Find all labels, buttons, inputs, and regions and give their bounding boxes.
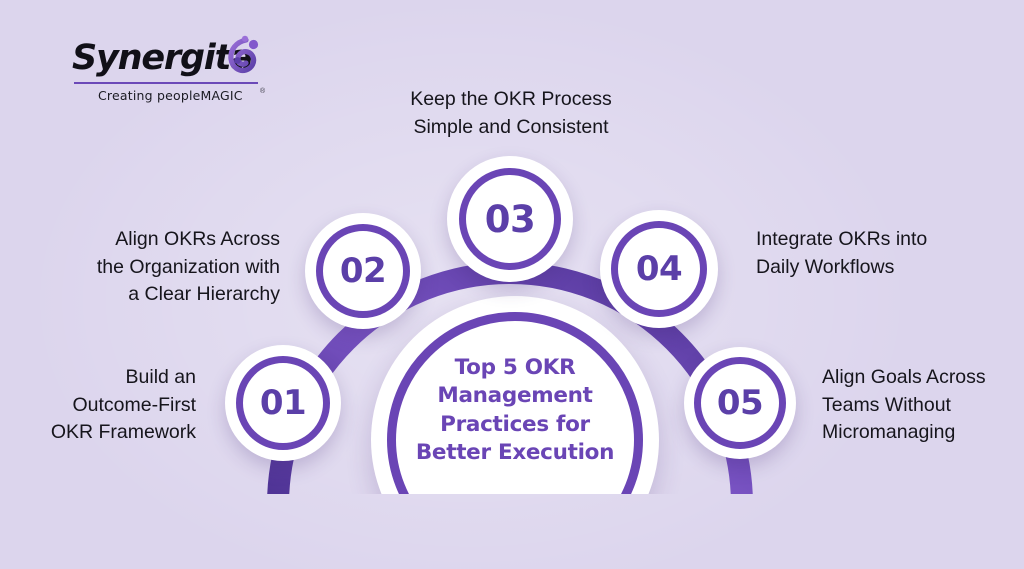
- brand-tagline: Creating peopleMAGIC: [98, 88, 243, 103]
- step-label-04: Integrate OKRs into Daily Workflows: [756, 226, 996, 281]
- step-badge-04[interactable]: 04: [600, 210, 718, 328]
- infographic-canvas: Top 5 OKR Management Practices for Bette…: [0, 0, 1024, 569]
- hub-title: Top 5 OKR Management Practices for Bette…: [407, 354, 623, 468]
- step-badge-01[interactable]: 01: [225, 345, 341, 461]
- synergita-swirl-icon: [212, 34, 264, 86]
- step-badge-02[interactable]: 02: [305, 213, 421, 329]
- step-badge-02-ring: 02: [316, 224, 410, 318]
- registered-mark: ®: [260, 88, 265, 95]
- step-badge-03-number: 03: [485, 201, 536, 238]
- step-badge-01-number: 01: [260, 386, 306, 420]
- step-badge-04-ring: 04: [611, 221, 707, 317]
- step-label-01: Build an Outcome-First OKR Framework: [10, 364, 196, 447]
- step-label-02: Align OKRs Across the Organization with …: [38, 226, 280, 309]
- step-badge-05-ring: 05: [694, 357, 786, 449]
- step-badge-02-number: 02: [340, 254, 386, 288]
- step-badge-01-ring: 01: [236, 356, 330, 450]
- step-label-03: Keep the OKR Process Simple and Consiste…: [380, 86, 642, 141]
- step-badge-04-number: 04: [636, 252, 682, 286]
- brand-logo[interactable]: Synergita Creating peopleMAGIC ®: [70, 38, 270, 110]
- step-label-05: Align Goals Across Teams Without Microma…: [822, 364, 1024, 447]
- step-badge-05-number: 05: [717, 386, 763, 420]
- step-badge-03[interactable]: 03: [447, 156, 573, 282]
- step-badge-03-ring: 03: [459, 168, 561, 270]
- step-badge-05[interactable]: 05: [684, 347, 796, 459]
